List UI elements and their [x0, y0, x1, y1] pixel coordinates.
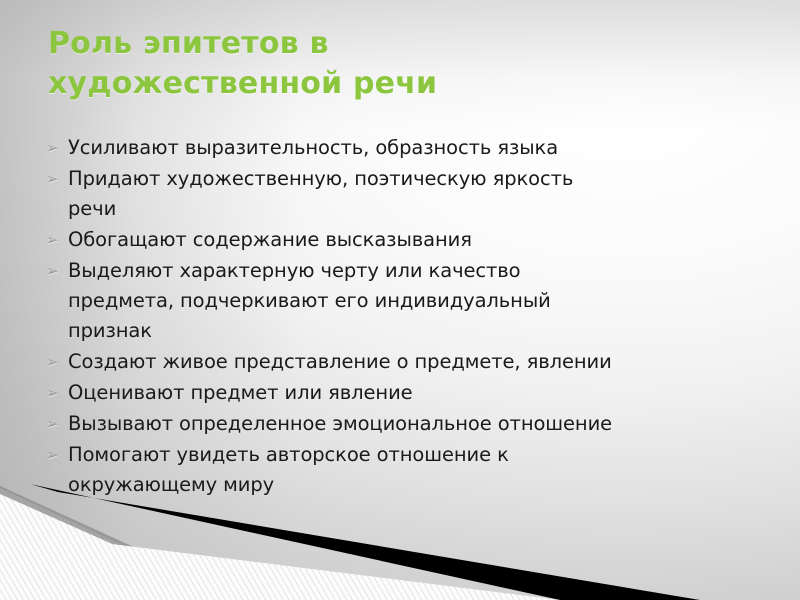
bullet-item: ➢ Вызывают определенное эмоциональное от… [44, 409, 756, 439]
bullet-item-text: Вызывают определенное эмоциональное отно… [68, 409, 756, 439]
bullet-text-line: предмета, подчеркивают его индивидуальны… [68, 286, 756, 316]
bullet-item-text: Обогащают содержание высказывания [68, 225, 756, 255]
bullet-item: ➢ Помогают увидеть авторское отношение к… [44, 440, 756, 500]
bullet-item: ➢ Оценивают предмет или явление [44, 378, 756, 408]
bullet-item-text: Создают живое представление о предмете, … [68, 347, 756, 377]
chevron-bullet-icon: ➢ [44, 347, 68, 377]
bullet-list: ➢ Усиливают выразительность, образность … [44, 133, 756, 501]
hatched-triangle-lower [0, 530, 560, 600]
bullet-text-line: признак [68, 316, 756, 346]
black-wedge [30, 484, 700, 600]
chevron-bullet-icon: ➢ [44, 378, 68, 408]
bullet-text-line: Усиливают выразительность, образность яз… [68, 133, 756, 163]
bullet-item-text: Усиливают выразительность, образность яз… [68, 133, 756, 163]
presentation-slide: Роль эпитетов в художественной речи ➢ Ус… [0, 0, 800, 600]
chevron-bullet-icon: ➢ [44, 440, 68, 470]
slide-title-line-1: Роль эпитетов в [48, 24, 608, 64]
bullet-item-text: Выделяют характерную черту или качество … [68, 256, 756, 346]
bullet-item: ➢ Обогащают содержание высказывания [44, 225, 756, 255]
bullet-item-text: Помогают увидеть авторское отношение к о… [68, 440, 756, 500]
decoration-outline [0, 486, 250, 600]
slide-title: Роль эпитетов в художественной речи [48, 24, 608, 104]
bullet-text-line: Вызывают определенное эмоциональное отно… [68, 409, 756, 439]
bullet-item-text: Придают художественную, поэтическую ярко… [68, 164, 756, 224]
bullet-text-line: Помогают увидеть авторское отношение к [68, 440, 756, 470]
bullet-text-line: окружающему миру [68, 470, 756, 500]
slide-title-line-2: художественной речи [48, 64, 608, 104]
bullet-text-line: Создают живое представление о предмете, … [68, 347, 756, 377]
bullet-item: ➢ Выделяют характерную черту или качеств… [44, 256, 756, 346]
bullet-text-line: Придают художественную, поэтическую ярко… [68, 164, 756, 194]
hatched-triangle-upper [0, 488, 240, 600]
chevron-bullet-icon: ➢ [44, 409, 68, 439]
bullet-text-line: Оценивают предмет или явление [68, 378, 756, 408]
chevron-bullet-icon: ➢ [44, 225, 68, 255]
bullet-text-line: Обогащают содержание высказывания [68, 225, 756, 255]
bullet-item: ➢ Создают живое представление о предмете… [44, 347, 756, 377]
chevron-bullet-icon: ➢ [44, 133, 68, 163]
bullet-item: ➢ Придают художественную, поэтическую яр… [44, 164, 756, 224]
bullet-item: ➢ Усиливают выразительность, образность … [44, 133, 756, 163]
bullet-text-line: Выделяют характерную черту или качество [68, 256, 756, 286]
bullet-item-text: Оценивают предмет или явление [68, 378, 756, 408]
chevron-bullet-icon: ➢ [44, 164, 68, 194]
bullet-text-line: речи [68, 194, 756, 224]
chevron-bullet-icon: ➢ [44, 256, 68, 286]
